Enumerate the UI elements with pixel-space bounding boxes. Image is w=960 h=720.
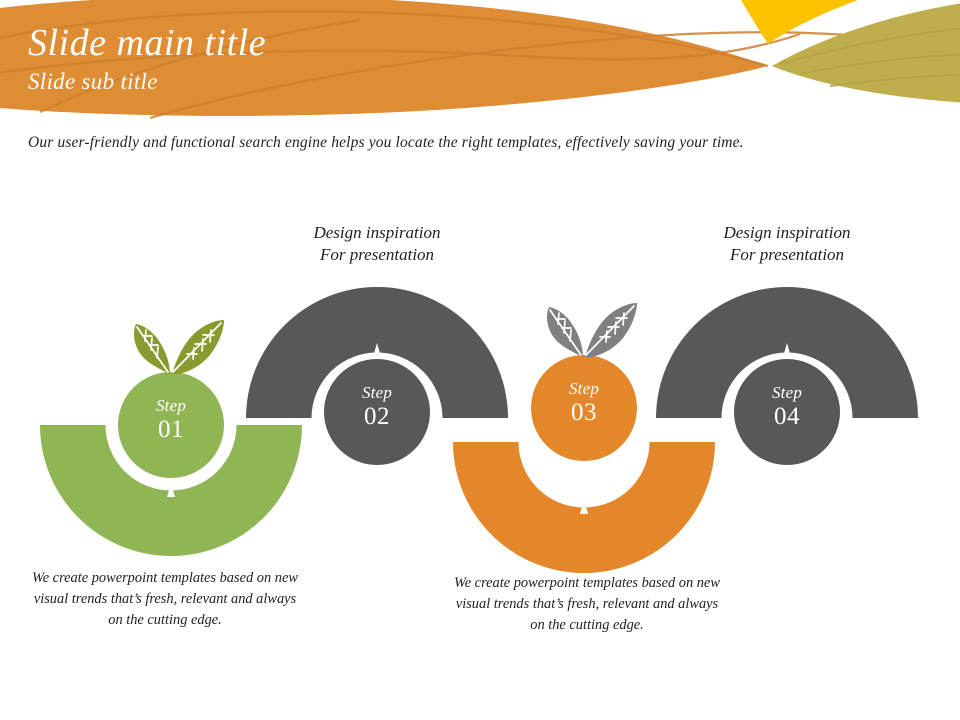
top-label-step-02-line2: For presentation [247,244,507,266]
top-label-step-04-line1: Design inspiration [723,223,850,242]
caption-step-01: We create powerpoint templates based on … [30,568,300,631]
caption-step-03: We create powerpoint templates based on … [452,573,722,636]
top-label-step-02-line1: Design inspiration [313,223,440,242]
step-02-circle[interactable] [324,359,430,465]
step-03-group[interactable] [453,303,715,573]
top-label-step-04-line2: For presentation [657,244,917,266]
step-04-circle[interactable] [734,359,840,465]
top-label-step-04: Design inspiration For presentation [657,222,917,267]
top-label-step-02: Design inspiration For presentation [247,222,507,267]
step-01-circle[interactable] [118,372,224,478]
step-03-leaf-icon [547,303,637,357]
slide-canvas: Slide main title Slide sub title Our use… [0,0,960,720]
step-03-circle[interactable] [531,355,637,461]
